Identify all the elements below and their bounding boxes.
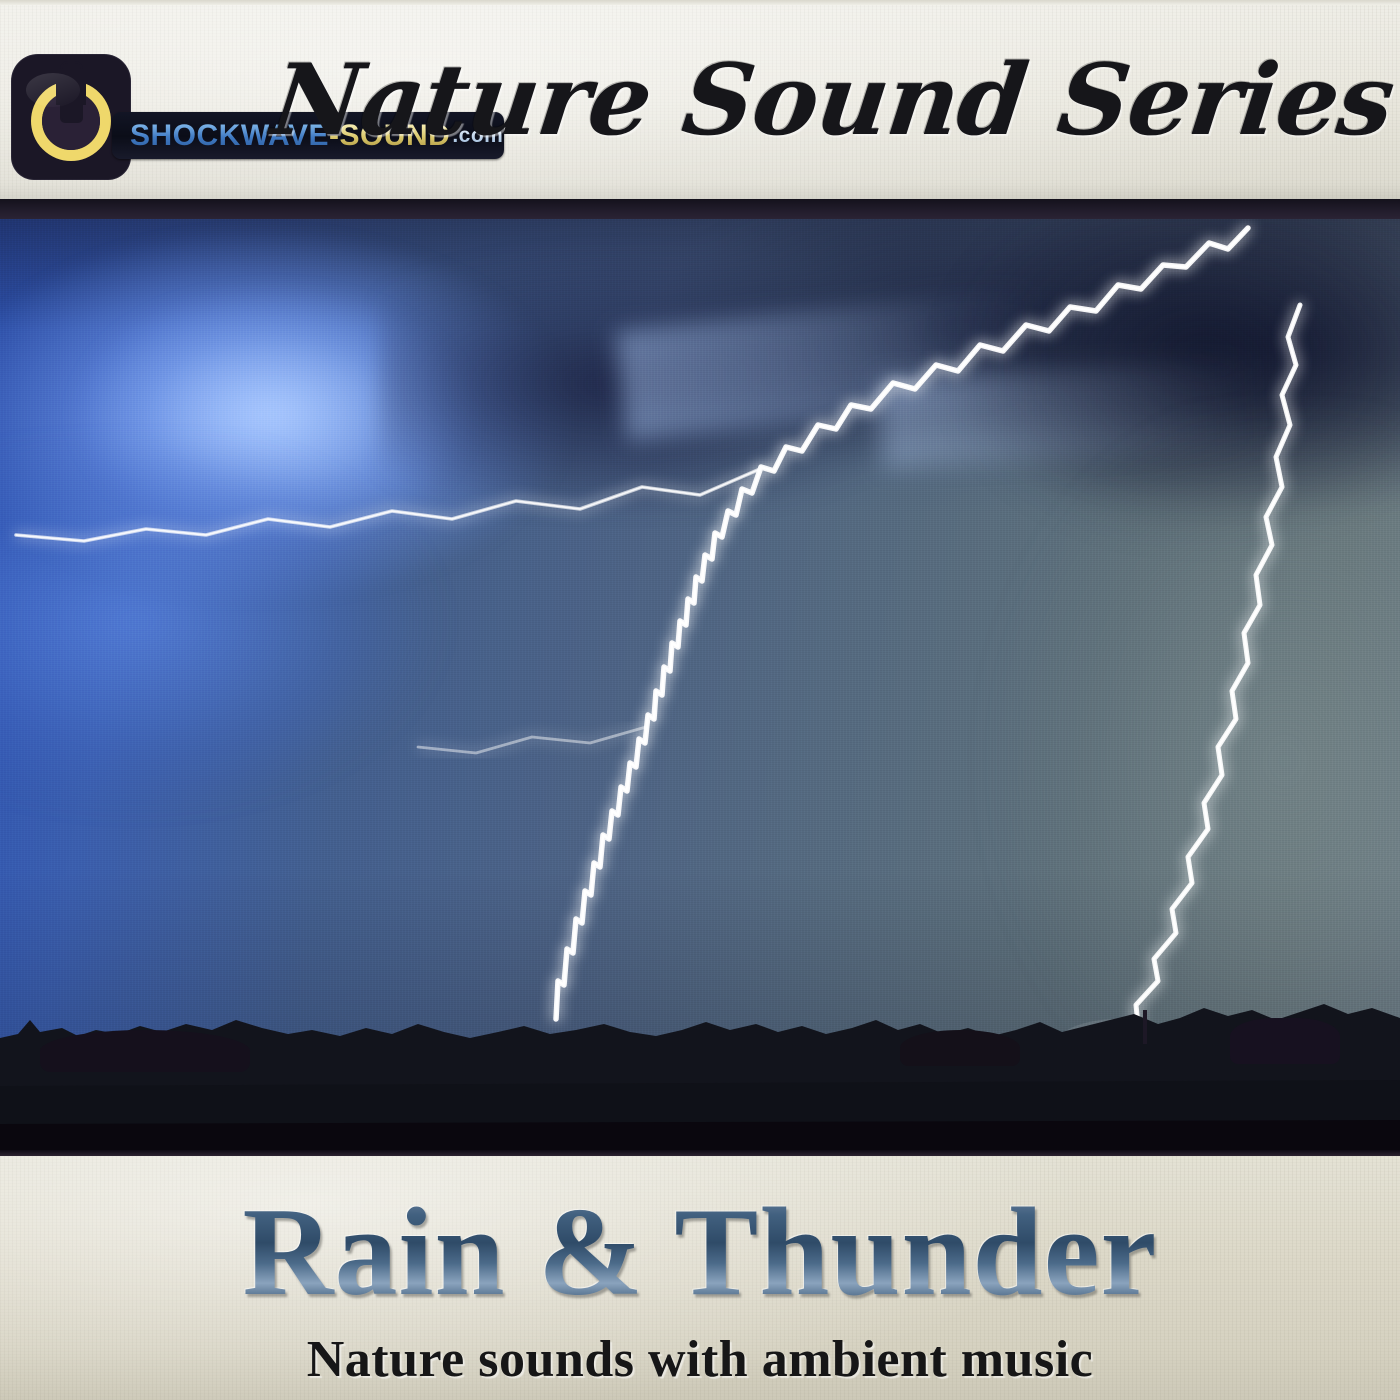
- logo-glare: [26, 73, 80, 107]
- tree-clump-right: [1230, 1018, 1340, 1064]
- album-cover: SHOCKWAVE -SOUND .com Nature Sound Serie…: [0, 0, 1400, 1400]
- utility-pole: [1143, 1010, 1147, 1044]
- header-top-edge: [0, 0, 1400, 5]
- album-subtitle: Nature sounds with ambient music: [0, 1334, 1400, 1386]
- tree-clump-center: [900, 1030, 1020, 1066]
- cover-photo-storm: [0, 219, 1400, 1150]
- cover-header: SHOCKWAVE -SOUND .com Nature Sound Serie…: [0, 0, 1400, 199]
- series-title: Nature Sound Series: [266, 52, 1398, 150]
- cover-footer: Rain & Thunder Nature sounds with ambien…: [0, 1156, 1400, 1400]
- tree-clump-left: [40, 1030, 250, 1072]
- album-title: Rain & Thunder: [0, 1190, 1400, 1316]
- header-photo-divider: [0, 199, 1400, 219]
- horizon-silhouette: [0, 990, 1400, 1150]
